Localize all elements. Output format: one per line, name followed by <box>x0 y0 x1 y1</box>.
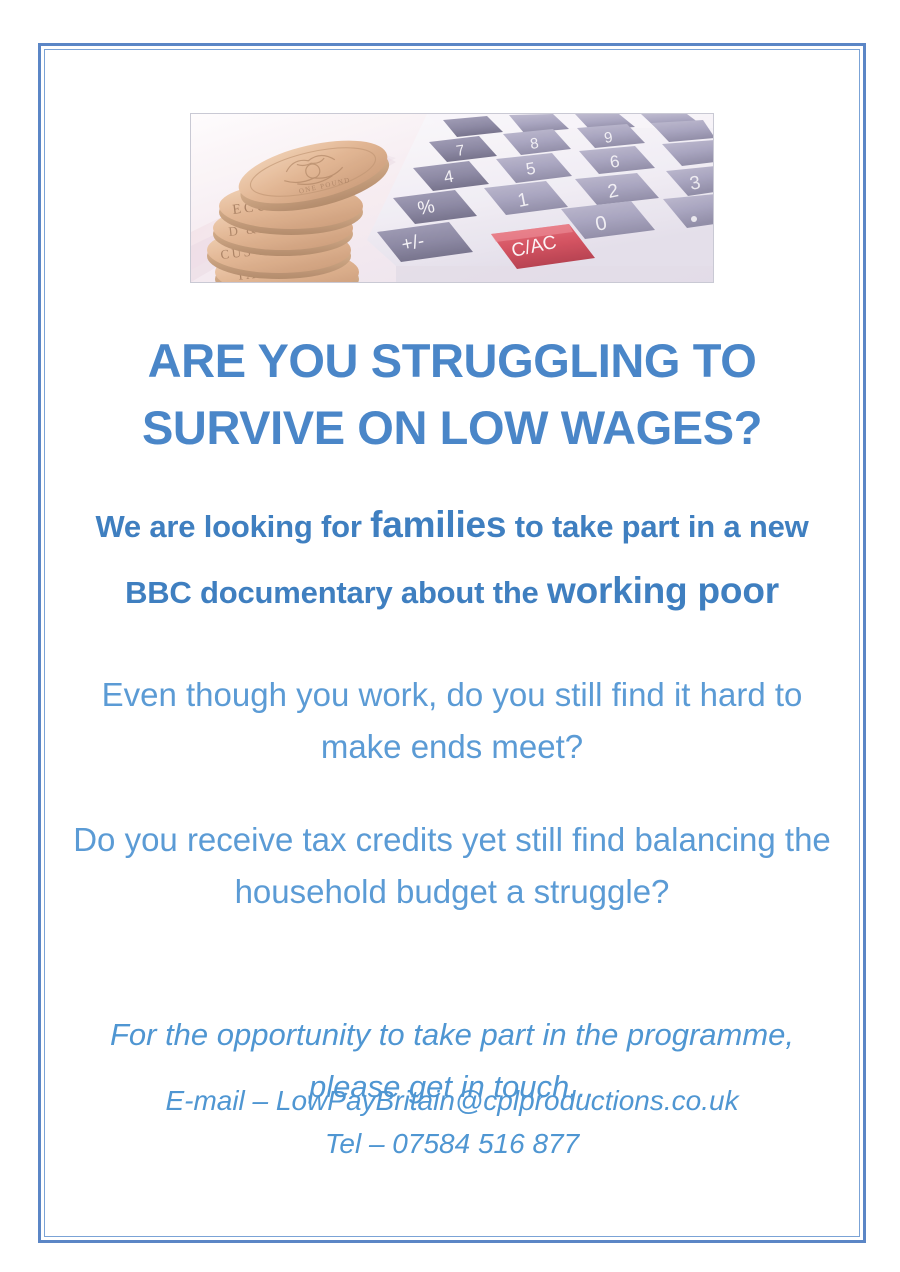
lead-paragraph: We are looking for families to take part… <box>60 492 844 624</box>
question-ends-meet: Even though you work, do you still find … <box>60 669 844 773</box>
poster-headline: ARE YOU STRUGGLING TO SURVIVE ON LOW WAG… <box>60 328 844 461</box>
poster-page: 7 8 9 4 5 <box>0 0 900 1272</box>
lead-text-part-1: We are looking for <box>95 509 370 544</box>
coins-calculator-photo: 7 8 9 4 5 <box>190 113 714 283</box>
coins-calculator-illustration: 7 8 9 4 5 <box>191 114 713 282</box>
lead-emphasis-families: families <box>370 504 506 545</box>
contact-details: E-mail – LowPayBritain@cplproductions.co… <box>60 1080 844 1165</box>
poster-content: 7 8 9 4 5 <box>60 60 844 1226</box>
headline-line-1: ARE YOU STRUGGLING TO <box>60 328 844 395</box>
headline-line-2: SURVIVE ON LOW WAGES? <box>60 395 844 462</box>
contact-telephone[interactable]: Tel – 07584 516 877 <box>60 1123 844 1166</box>
question-tax-credits: Do you receive tax credits yet still fin… <box>60 814 844 918</box>
photo-canvas: 7 8 9 4 5 <box>191 114 713 282</box>
lead-emphasis-working-poor: working poor <box>547 570 779 611</box>
contact-email[interactable]: E-mail – LowPayBritain@cplproductions.co… <box>60 1080 844 1123</box>
